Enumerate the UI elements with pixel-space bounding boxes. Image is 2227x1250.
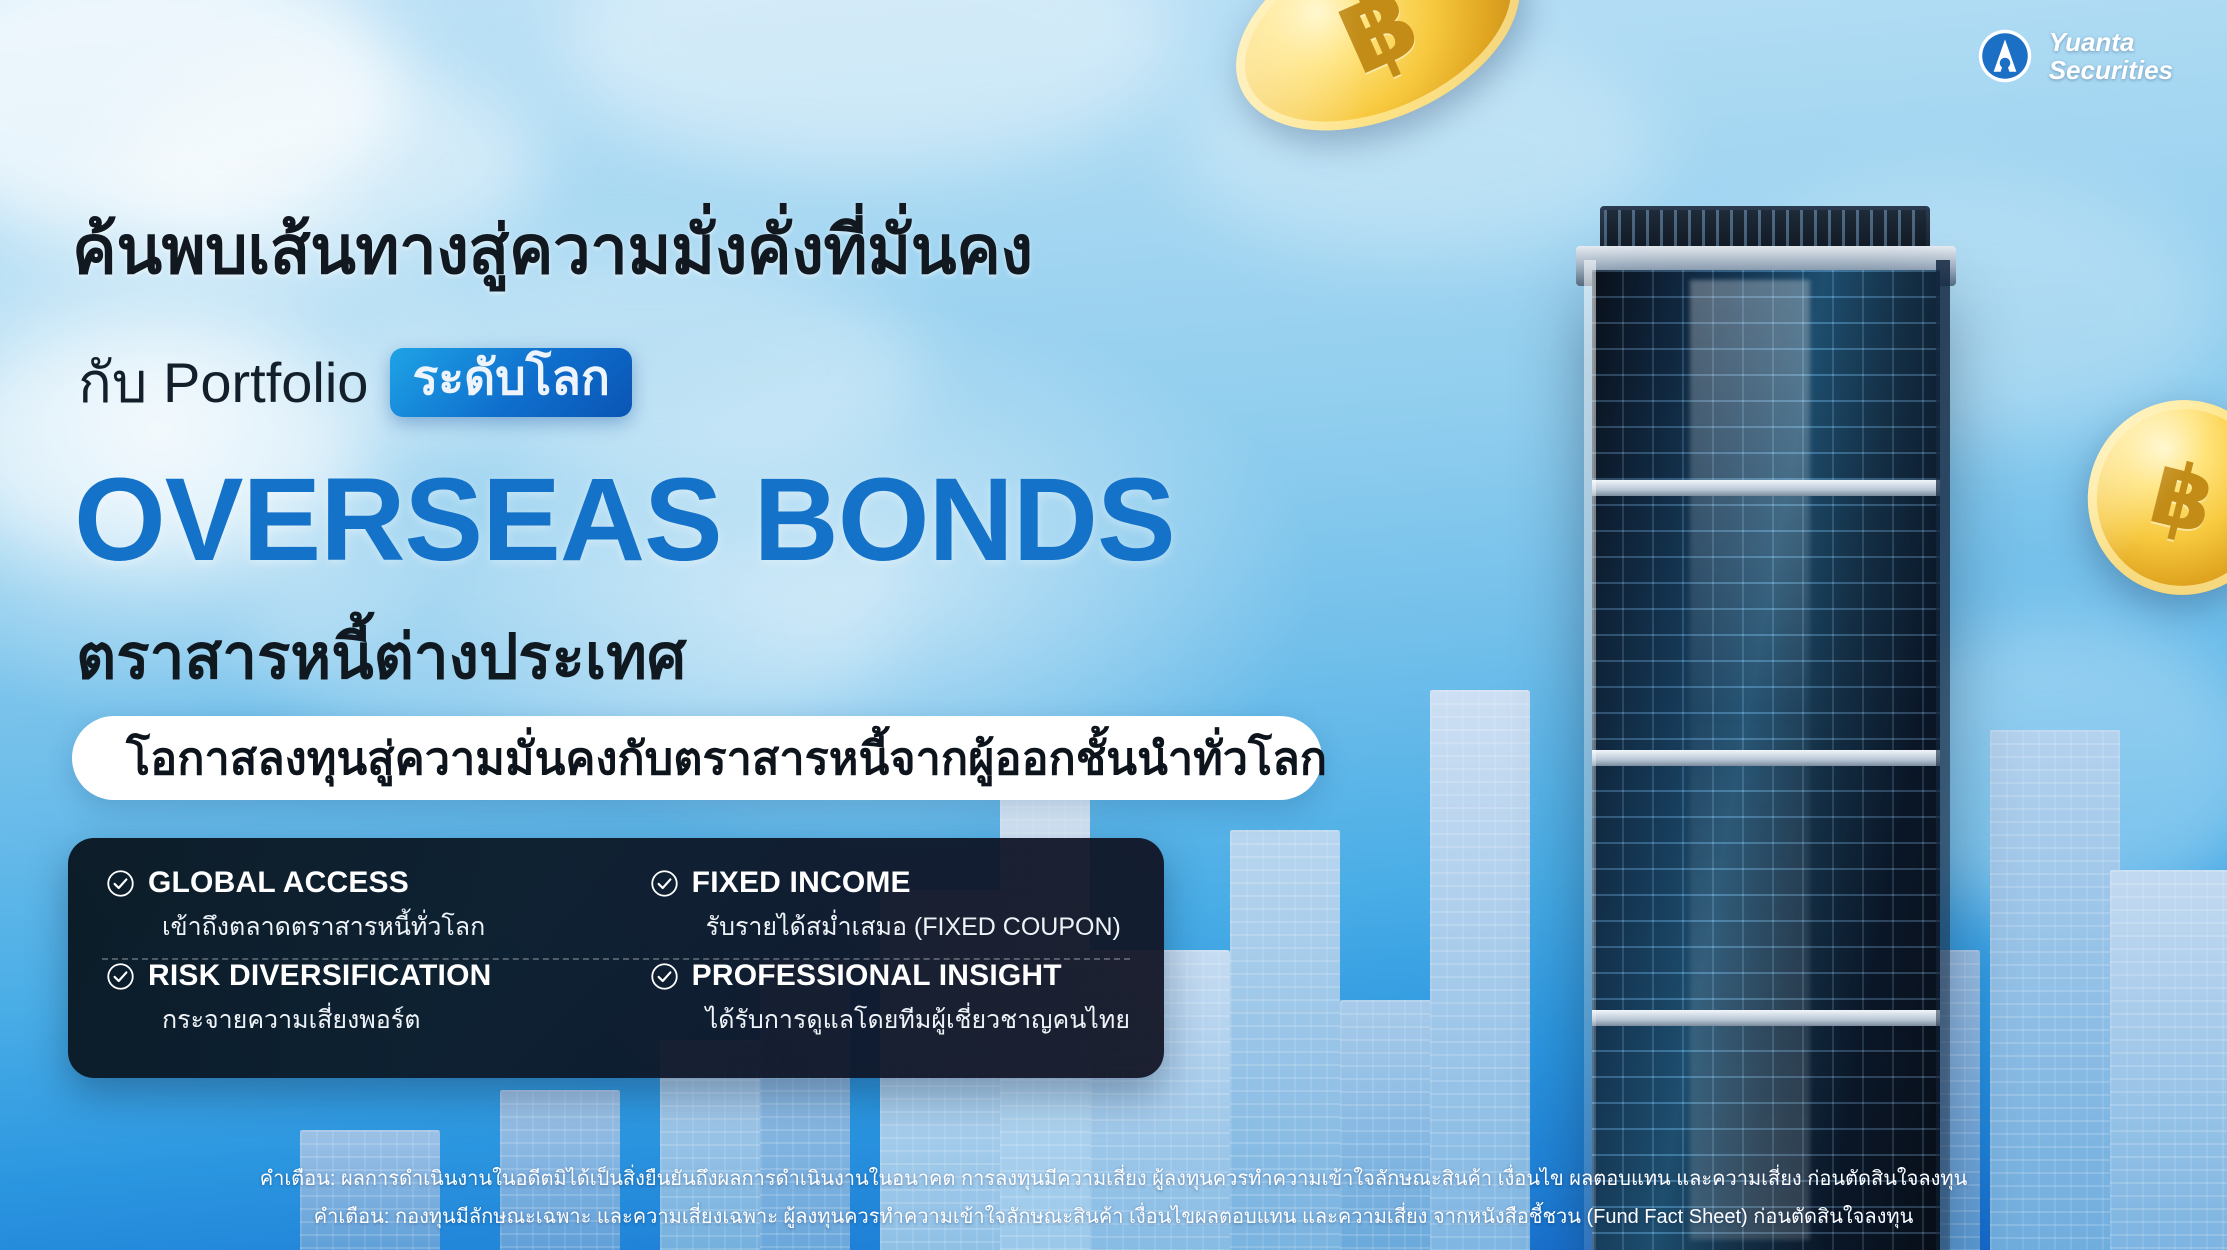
feature-subtitle: ได้รับการดูแลโดยทีมผู้เชี่ยวชาญคนไทย (706, 1000, 1130, 1040)
feature-title-row: RISK DIVERSIFICATION (106, 959, 598, 993)
subheadline-text: กับ Portfolio (78, 338, 368, 427)
feature-title: PROFESSIONAL INSIGHT (692, 959, 1062, 993)
check-circle-icon (106, 869, 135, 898)
world-class-badge: ระดับโลก (390, 348, 631, 416)
page-title-thai: ตราสารหนี้ต่างประเทศ (76, 608, 686, 706)
disclaimer-line-1: คำเตือน: ผลการดำเนินงานในอดีตมิได้เป็นสิ… (0, 1162, 2227, 1194)
yuanta-a-mark-icon (1977, 28, 2033, 84)
feature-title-row: GLOBAL ACCESS (106, 866, 598, 900)
check-circle-icon (106, 962, 135, 991)
promo-banner: ฿ ฿ Yuanta Securities (0, 0, 2227, 1250)
feature-title: RISK DIVERSIFICATION (148, 959, 491, 993)
headline: ค้นพบเส้นทางสู่ความมั่งคั่งที่มั่นคง (72, 196, 1033, 303)
feature-item-global-access: GLOBAL ACCESS เข้าถึงตลาดตราสารหนี้ทั่วโ… (102, 866, 598, 959)
callout-banner: โอกาสลงทุนสู่ความมั่นคงกับตราสารหนี้จากผ… (72, 716, 1322, 800)
feature-subtitle: รับรายได้สม่ำเสมอ (FIXED COUPON) (706, 907, 1130, 947)
page-title: OVERSEAS BONDS (74, 452, 1175, 588)
brand-name-line1: Yuanta (2049, 28, 2173, 56)
brand-name-line2: Securities (2049, 56, 2173, 84)
feature-title-row: PROFESSIONAL INSIGHT (650, 959, 1130, 993)
disclaimer-line-2: คำเตือน: กองทุนมีลักษณะเฉพาะ และความเสี่… (0, 1200, 2227, 1232)
feature-item-risk-diversification: RISK DIVERSIFICATION กระจายความเสี่ยงพอร… (102, 959, 598, 1052)
check-circle-icon (650, 869, 679, 898)
feature-item-professional-insight: PROFESSIONAL INSIGHT ได้รับการดูแลโดยทีม… (616, 959, 1130, 1052)
check-circle-icon (650, 962, 679, 991)
brand-name: Yuanta Securities (2049, 28, 2173, 84)
callout-text: โอกาสลงทุนสู่ความมั่นคงกับตราสารหนี้จากผ… (126, 722, 1327, 794)
brand-logo: Yuanta Securities (1977, 28, 2173, 84)
feature-title: GLOBAL ACCESS (148, 866, 409, 900)
feature-subtitle: เข้าถึงตลาดตราสารหนี้ทั่วโลก (162, 907, 598, 947)
feature-title: FIXED INCOME (692, 866, 911, 900)
subheadline-row: กับ Portfolio ระดับโลก (78, 338, 632, 427)
feature-item-fixed-income: FIXED INCOME รับรายได้สม่ำเสมอ (FIXED CO… (616, 866, 1130, 959)
feature-panel: GLOBAL ACCESS เข้าถึงตลาดตราสารหนี้ทั่วโ… (68, 838, 1164, 1078)
feature-title-row: FIXED INCOME (650, 866, 1130, 900)
feature-subtitle: กระจายความเสี่ยงพอร์ต (162, 1000, 598, 1040)
